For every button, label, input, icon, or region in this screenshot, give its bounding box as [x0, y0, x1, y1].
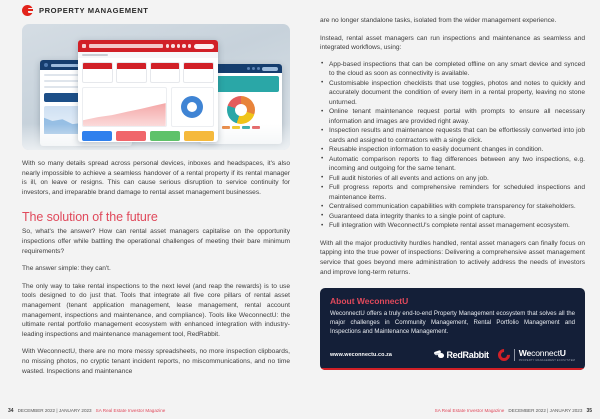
- right-paragraph-2: Instead, rental asset managers can run i…: [320, 34, 585, 53]
- right-paragraph-3: With all the major productivity hurdles …: [320, 239, 585, 277]
- footer-magazine-left: SA Real Estate Investor Magazine: [96, 408, 166, 413]
- left-paragraph-2: So, what's the answer? How can rental as…: [22, 227, 290, 256]
- list-item: App-based inspections that can be comple…: [320, 60, 585, 79]
- left-paragraph-5: With WeconnectU, there are no more messy…: [22, 347, 290, 376]
- list-item: Full progress reports and comprehensive …: [320, 183, 585, 202]
- redrabbit-logo-text: RedRabbit: [446, 350, 488, 360]
- list-item: Guaranteed data integrity thanks to a si…: [320, 212, 585, 222]
- weconnectu-c-mark-icon: [22, 5, 33, 16]
- right-paragraph-1: are no longer standalone tasks, isolated…: [320, 16, 585, 26]
- feature-bullet-list: App-based inspections that can be comple…: [320, 60, 585, 231]
- software-screenshot-collage: [22, 24, 290, 150]
- about-box-body: WeconnectU offers a truly end-to-end Pro…: [330, 309, 575, 336]
- footer-page-number-left: 34: [8, 408, 14, 414]
- left-column: With so many details spread across perso…: [22, 24, 290, 376]
- section-heading: The solution of the future: [22, 210, 290, 224]
- website-url-link[interactable]: www.weconnectu.co.za: [330, 352, 392, 358]
- redrabbit-logo: RedRabbit: [434, 350, 489, 360]
- rabbit-icon: [434, 351, 444, 359]
- list-item: Inspection results and maintenance reque…: [320, 126, 585, 145]
- page-footer: 34 DECEMBER 2022 | JANUARY 2023 SA Real …: [0, 402, 600, 419]
- about-box-title: About WeconnectU: [330, 296, 575, 306]
- list-item: Centralised communication capabilities w…: [320, 202, 585, 212]
- weconnectu-logo-u: U: [560, 348, 566, 358]
- about-box-footer: www.weconnectu.co.za RedRabbit Weconnect…: [330, 348, 575, 362]
- partner-logos: RedRabbit WeconnectU PROPERTY MANAGEMENT…: [434, 348, 575, 362]
- list-item: Online tenant maintenance request portal…: [320, 107, 585, 126]
- weconnectu-logo-tagline: PROPERTY MANAGEMENT ECOSYSTEM: [519, 359, 575, 362]
- weconnectu-c-icon: [495, 346, 512, 363]
- page-title: PROPERTY MANAGEMENT: [39, 6, 148, 15]
- footer-issue-right: DECEMBER 2022 | JANUARY 2023: [508, 408, 582, 413]
- list-item: Full integration with WeconnectU's compl…: [320, 221, 585, 231]
- footer-left: 34 DECEMBER 2022 | JANUARY 2023 SA Real …: [8, 408, 165, 414]
- left-paragraph-1: With so many details spread across perso…: [22, 159, 290, 197]
- left-paragraph-4: The only way to take rental inspections …: [22, 282, 290, 340]
- about-weconnectu-box: About WeconnectU WeconnectU offers a tru…: [320, 288, 585, 370]
- weconnectu-logo-we: We: [519, 348, 531, 358]
- list-item: Full audit histories of all events and a…: [320, 174, 585, 184]
- list-item: Automatic comparison reports to flag dif…: [320, 155, 585, 174]
- footer-magazine-right: SA Real Estate Investor Magazine: [435, 408, 505, 413]
- right-column: are no longer standalone tasks, isolated…: [320, 16, 585, 370]
- collage-screenshot-center: [78, 40, 218, 142]
- list-item: Customisable inspection checklists that …: [320, 79, 585, 108]
- list-item: Reusable inspection information to easil…: [320, 145, 585, 155]
- logo-divider: [514, 349, 515, 361]
- weconnectu-logo-connect: connect: [531, 348, 560, 358]
- left-paragraph-3: The answer simple: they can't.: [22, 264, 290, 274]
- footer-issue-left: DECEMBER 2022 | JANUARY 2023: [18, 408, 92, 413]
- weconnectu-logo: WeconnectU PROPERTY MANAGEMENT ECOSYSTEM: [498, 348, 575, 362]
- footer-page-number-right: 35: [586, 408, 592, 414]
- magazine-page: PROPERTY MANAGEMENT: [0, 0, 600, 419]
- footer-right: SA Real Estate Investor Magazine DECEMBE…: [435, 408, 592, 414]
- weconnectu-logo-text: WeconnectU PROPERTY MANAGEMENT ECOSYSTEM: [519, 348, 575, 362]
